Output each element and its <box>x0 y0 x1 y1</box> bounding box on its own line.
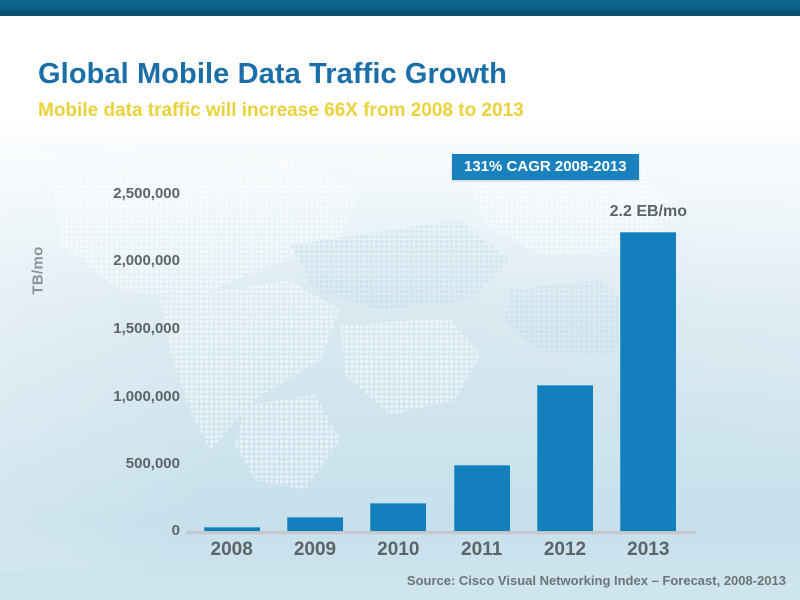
y-tick-label-0: 0 <box>60 522 180 539</box>
y-tick-label-2500000: 2,500,000 <box>60 185 180 202</box>
bar-2013 <box>620 232 676 531</box>
x-axis-baseline <box>186 531 696 535</box>
x-tick-label-2008: 2008 <box>190 539 273 561</box>
x-tick-label-2012: 2012 <box>523 539 606 561</box>
x-tick-label-2010: 2010 <box>357 539 440 561</box>
y-axis-title: TB/mo <box>30 221 47 321</box>
top-band <box>0 0 800 13</box>
top-band-edge <box>0 13 800 16</box>
x-tick-label-2009: 2009 <box>273 539 356 561</box>
bar-2011 <box>454 465 510 531</box>
cagr-badge: 131% CAGR 2008-2013 <box>452 154 639 180</box>
x-tick-label-2013: 2013 <box>607 539 690 561</box>
y-tick-label-1500000: 1,500,000 <box>60 320 180 337</box>
bar-2009 <box>287 517 343 531</box>
bar-plot-area <box>190 193 690 531</box>
x-tick-label-2011: 2011 <box>440 539 523 561</box>
slide-canvas: Global Mobile Data Traffic Growth Mobile… <box>0 0 800 600</box>
data-label-2013: 2.2 EB/mo <box>607 203 690 221</box>
page-title: Global Mobile Data Traffic Growth <box>38 58 507 91</box>
source-note: Source: Cisco Visual Networking Index – … <box>407 573 786 588</box>
y-tick-label-2000000: 2,000,000 <box>60 252 180 269</box>
bar-2012 <box>537 385 593 531</box>
y-tick-label-1000000: 1,000,000 <box>60 388 180 405</box>
y-tick-label-500000: 500,000 <box>60 455 180 472</box>
page-subtitle: Mobile data traffic will increase 66X fr… <box>38 100 524 122</box>
bar-2010 <box>370 503 426 531</box>
